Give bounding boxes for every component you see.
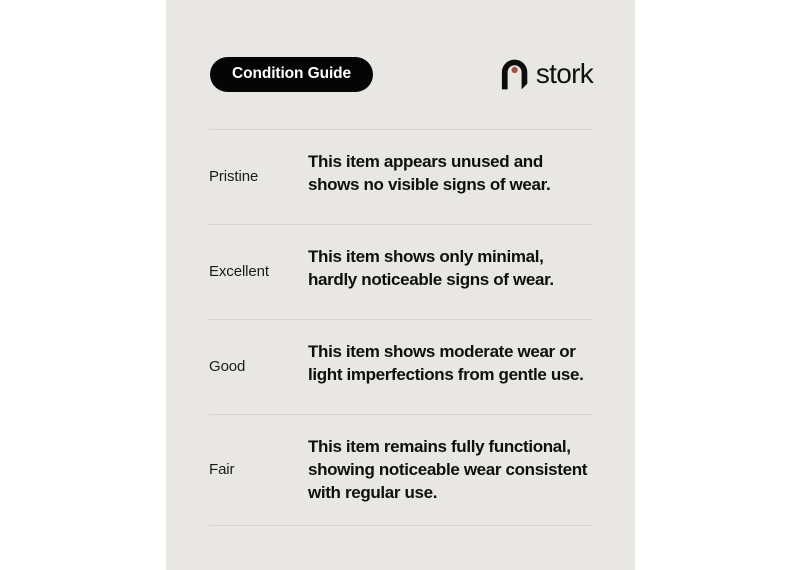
table-divider-bottom [209, 525, 592, 526]
condition-description: This item shows only minimal, hardly not… [308, 247, 554, 289]
row-description-cell: This item remains fully functional, show… [308, 436, 592, 504]
brand-lockup: stork [501, 56, 593, 92]
table-row: Good This item shows moderate wear or li… [209, 320, 592, 414]
stork-arch-logo-icon [501, 59, 529, 90]
row-label-cell: Excellent [209, 246, 308, 298]
table-row: Pristine This item appears unused and sh… [209, 130, 592, 224]
row-label-cell: Pristine [209, 151, 308, 203]
condition-description: This item remains fully functional, show… [308, 437, 587, 502]
table-row: Excellent This item shows only minimal, … [209, 225, 592, 319]
card-header: Condition Guide stork [210, 54, 593, 94]
condition-label: Pristine [209, 167, 258, 187]
row-description-cell: This item appears unused and shows no vi… [308, 151, 592, 197]
condition-description: This item shows moderate wear or light i… [308, 342, 584, 384]
condition-label: Fair [209, 460, 234, 480]
condition-description: This item appears unused and shows no vi… [308, 152, 550, 194]
condition-label: Excellent [209, 262, 269, 282]
condition-guide-badge: Condition Guide [210, 57, 373, 92]
row-label-cell: Good [209, 341, 308, 393]
row-label-cell: Fair [209, 436, 308, 504]
brand-wordmark: stork [536, 60, 593, 88]
table-row: Fair This item remains fully functional,… [209, 415, 592, 525]
page-root: Condition Guide stork Pristine [0, 0, 800, 570]
row-description-cell: This item shows moderate wear or light i… [308, 341, 592, 387]
condition-guide-card: Condition Guide stork Pristine [166, 0, 635, 570]
row-description-cell: This item shows only minimal, hardly not… [308, 246, 592, 292]
condition-guide-table: Pristine This item appears unused and sh… [209, 129, 592, 526]
condition-label: Good [209, 357, 245, 377]
